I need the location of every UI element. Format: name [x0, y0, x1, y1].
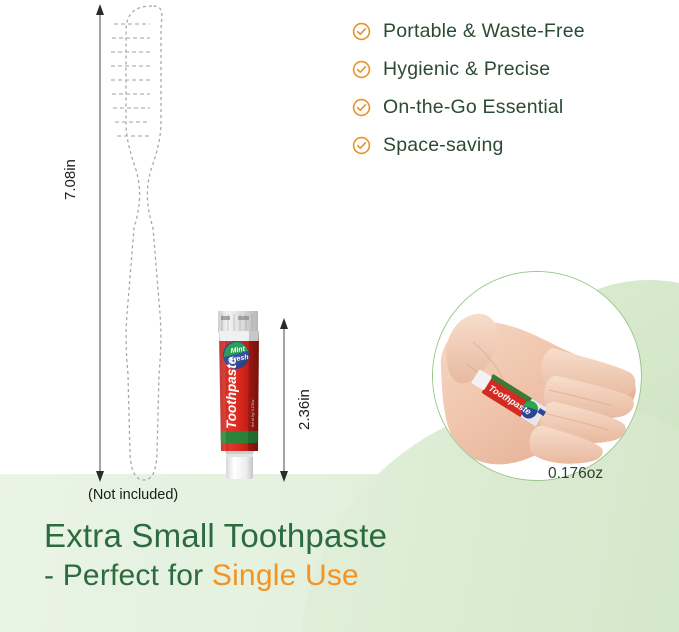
feature-label: Portable & Waste-Free — [383, 20, 585, 43]
svg-text:Toothpaste: Toothpaste — [224, 356, 239, 429]
feature-item: On-the-Go Essential — [352, 88, 672, 126]
feature-item: Hygienic & Precise — [352, 50, 672, 88]
toothbrush-outline-illustration — [108, 2, 188, 493]
hand-holding-tube-photo: Toothpaste — [432, 271, 642, 481]
headline-primary: Extra Small Toothpaste — [44, 516, 387, 556]
headline-block: Extra Small Toothpaste - Perfect for Sin… — [44, 516, 387, 595]
feature-item: Portable & Waste-Free — [352, 12, 672, 50]
toothpaste-tube-illustration: Mint Fresh Toothpaste Net wt 5g / 0.176o… — [212, 311, 270, 481]
feature-label: Hygienic & Precise — [383, 58, 550, 81]
feature-label: Space-saving — [383, 134, 504, 157]
check-circle-icon — [352, 98, 371, 117]
tube-dimension-line — [283, 318, 285, 480]
product-infographic: 7.08in (Not included) — [0, 0, 679, 632]
svg-text:Net wt 5g / 0.176oz: Net wt 5g / 0.176oz — [251, 399, 255, 427]
tube-height-label: 2.36in — [296, 389, 313, 430]
feature-list: Portable & Waste-Free Hygienic & Precise… — [352, 12, 672, 164]
toothbrush-height-label: 7.08in — [62, 159, 79, 200]
check-circle-icon — [352, 60, 371, 79]
toothbrush-not-included-note: (Not included) — [88, 487, 178, 503]
feature-item: Space-saving — [352, 126, 672, 164]
check-circle-icon — [352, 136, 371, 155]
check-circle-icon — [352, 22, 371, 41]
headline-secondary: - Perfect for Single Use — [44, 556, 387, 595]
tube-weight-label: 0.176oz — [548, 465, 603, 483]
feature-label: On-the-Go Essential — [383, 96, 563, 119]
toothbrush-dimension-line — [99, 4, 101, 476]
headline-secondary-accent: Single Use — [212, 559, 359, 592]
headline-secondary-prefix: - Perfect for — [44, 559, 212, 592]
